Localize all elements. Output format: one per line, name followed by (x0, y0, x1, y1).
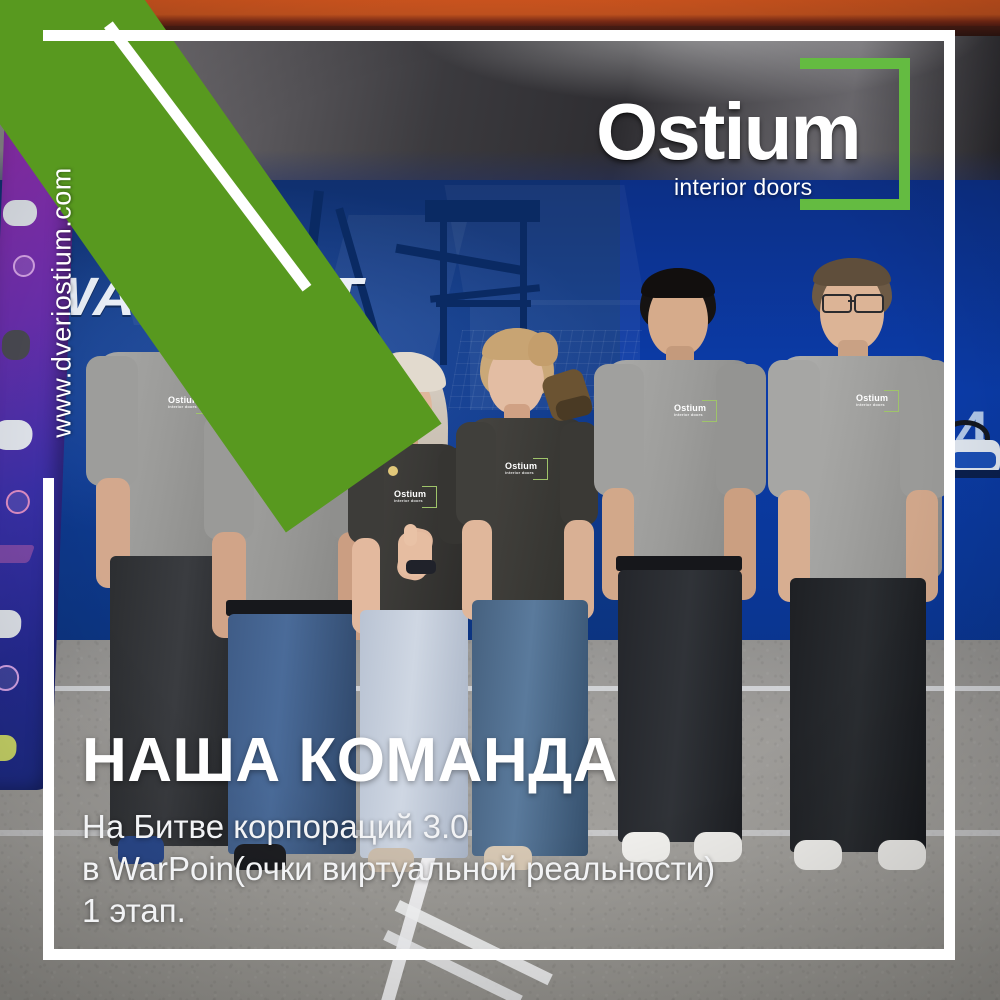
belt (616, 556, 742, 571)
banner-icon (0, 735, 17, 761)
caption-line-1: На Битве корпораций 3.0 (82, 806, 862, 848)
tower-beam (440, 215, 447, 365)
eyeglasses-left-lens (822, 294, 852, 313)
logo-tagline: interior doors (674, 174, 812, 201)
banner-icon (0, 610, 22, 638)
frame-border-left (43, 478, 54, 960)
eyeglasses-bridge (848, 300, 855, 302)
banner-icon (2, 200, 37, 226)
frame-border-right (944, 30, 955, 960)
caption-block: НАША КОМАНДА На Битве корпораций 3.0 в W… (82, 730, 862, 933)
tower-beam (436, 300, 531, 307)
promo-poster: WARPOINT 4 Osti (0, 0, 1000, 1000)
banner-icon (1, 330, 30, 360)
banner-icon (13, 255, 36, 277)
banner-icon (0, 420, 33, 450)
logo-wordmark: Ostium (596, 92, 860, 172)
pendant (388, 466, 398, 476)
frame-border-bottom (43, 949, 955, 960)
ponytail (528, 332, 558, 366)
vr-headset-strap (952, 452, 996, 468)
caption-line-3: 1 этап. (82, 890, 862, 932)
door-frame-bracket-top-stub (800, 58, 830, 69)
caption-line-2: в WarPoin(очки виртуальной реальности) (82, 848, 862, 890)
banner-icon (0, 545, 35, 563)
banner-icon (5, 490, 30, 514)
vertical-website-url[interactable]: www.dveriostium.com (47, 93, 78, 513)
thumb (404, 524, 417, 546)
ostium-logo[interactable]: Ostium interior doors (596, 96, 912, 226)
eyeglasses-right-lens (854, 294, 884, 313)
smartwatch (406, 560, 436, 574)
banner-icon (0, 665, 20, 691)
frame-border-top (43, 30, 955, 41)
headline: НАША КОМАНДА (82, 730, 862, 792)
